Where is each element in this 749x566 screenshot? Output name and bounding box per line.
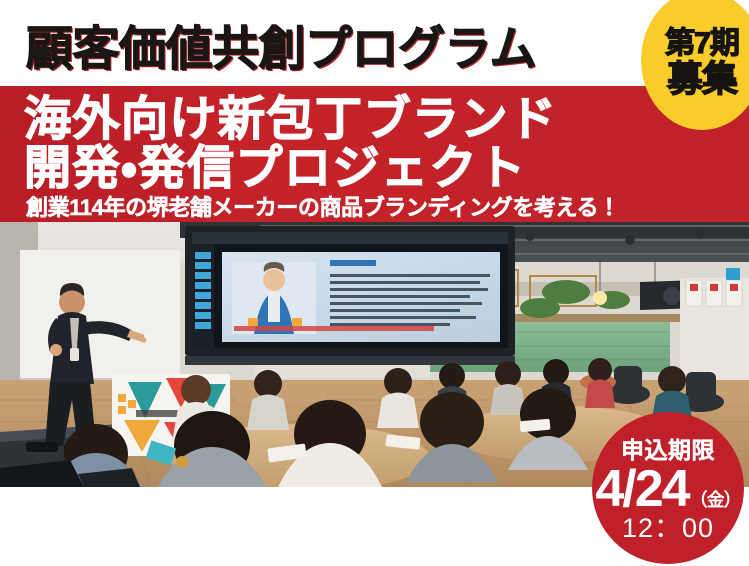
headline-subtitle: 創業114年の堺老舗メーカーの商品ブランディングを考える！ (26, 196, 620, 220)
deadline-date-row: 4/24 （金） (595, 461, 740, 517)
badge-term-label: 第7期 (665, 28, 739, 60)
application-deadline-badge: 申込期限 4/24 （金） 12：00 (592, 412, 744, 564)
headline-banner: 海外向け新包丁ブランド 開発・発信プロジェクト 創業114年の堺老舗メーカーの商… (0, 86, 749, 222)
deadline-label: 申込期限 (621, 437, 715, 463)
attendee (585, 358, 615, 408)
poster-root: 顧客価値共創プログラム 海外向け新包丁ブランド 開発・発信プロジェクト 創業11… (0, 0, 749, 566)
deadline-time: 12：00 (622, 514, 714, 542)
headline-line-2: 開発・発信プロジェクト (24, 143, 526, 193)
badge-recruit-label: 募集 (667, 60, 737, 98)
deadline-date: 4/24 (595, 461, 688, 517)
header-band: 顧客価値共創プログラム (0, 0, 749, 86)
program-title: 顧客価値共創プログラム (26, 22, 536, 75)
deadline-day-of-week: （金） (690, 486, 741, 512)
headline-line-1: 海外向け新包丁ブランド (24, 94, 558, 144)
